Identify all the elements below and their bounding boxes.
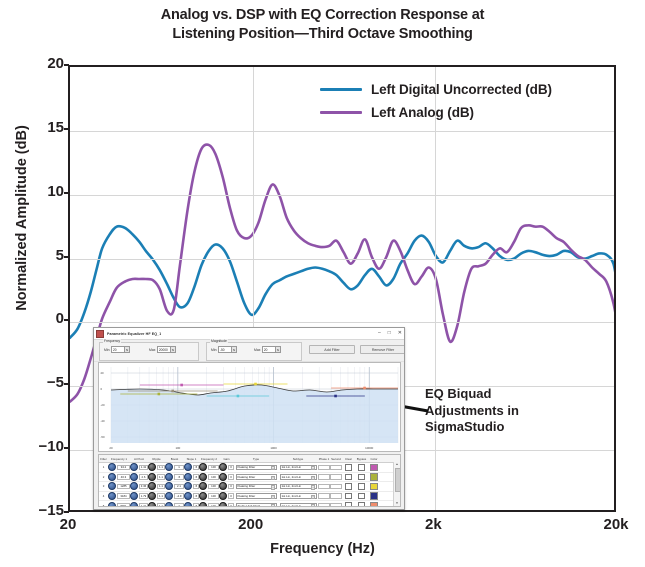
eq-filter-handle[interactable] bbox=[171, 390, 174, 393]
legend-item-label: Left Digital Uncorrected (dB) bbox=[371, 82, 552, 97]
color-cell[interactable] bbox=[368, 501, 380, 507]
rotary-knob[interactable] bbox=[130, 473, 138, 481]
gridline-horizontal bbox=[70, 131, 614, 132]
frequency-2-control[interactable]: 100 bbox=[199, 482, 219, 491]
magnitude-min-stepper[interactable]: ⇅ bbox=[232, 346, 237, 353]
boost-control[interactable]: -5 bbox=[165, 473, 184, 482]
filter-index-value: 4 bbox=[103, 494, 105, 498]
clear-cell[interactable] bbox=[342, 492, 355, 501]
rotary-knob[interactable] bbox=[219, 492, 227, 500]
gain-control[interactable]: 0 bbox=[219, 492, 234, 501]
clear-cell-checkbox[interactable] bbox=[345, 464, 352, 471]
column-header[interactable]: Bypass bbox=[355, 457, 368, 461]
frequency-2-control-value: 100 bbox=[208, 465, 219, 470]
rotary-knob[interactable] bbox=[184, 463, 192, 471]
rotary-knob[interactable] bbox=[165, 473, 173, 481]
filter-index-value: 5 bbox=[103, 504, 105, 507]
at-pivot-control[interactable]: 3.36 bbox=[130, 482, 148, 491]
filter-subtype[interactable]: 1st Lin, 2nd Lin⌄ bbox=[278, 482, 318, 491]
filter-color-swatch[interactable] bbox=[370, 492, 377, 499]
frequency-2-control-value: 100 bbox=[208, 484, 219, 489]
chevron-down-icon[interactable]: ⌄ bbox=[271, 495, 275, 499]
rotary-knob[interactable] bbox=[148, 492, 156, 500]
second-value bbox=[330, 503, 342, 507]
gridline-vertical bbox=[435, 67, 436, 510]
y-tick-label: −5 bbox=[4, 374, 64, 391]
app-icon bbox=[96, 330, 104, 338]
bypass-cell-checkbox[interactable] bbox=[358, 502, 365, 507]
rotary-knob[interactable] bbox=[199, 492, 207, 500]
eq-filter-handle[interactable] bbox=[334, 395, 337, 398]
second-cell[interactable] bbox=[330, 501, 342, 507]
magnitude-min-field[interactable]: Min -50 ⇅ bbox=[211, 346, 237, 353]
eq-toolbar: Frequency Min 20 ⇅ Max 20000 ⇅ Magnitude… bbox=[94, 340, 404, 362]
legend-color-swatch bbox=[320, 88, 362, 92]
magnitude-max-label: Max bbox=[254, 348, 260, 352]
maximize-icon[interactable]: □ bbox=[388, 331, 391, 336]
filter-subtype-value: 1st Lin, 2nd Lin bbox=[282, 494, 302, 498]
filter-type-select[interactable]: Treble High Shelf⌄ bbox=[236, 503, 277, 507]
chart-title-line-1: Analog vs. DSP with EQ Correction Respon… bbox=[0, 6, 645, 25]
legend-item: Left Analog (dB) bbox=[320, 101, 552, 124]
second-cell[interactable] bbox=[330, 463, 342, 472]
filter-subtype-value: 1st Lin, 2nd Lin bbox=[282, 475, 302, 479]
phase-1-value bbox=[318, 465, 330, 470]
chevron-down-icon[interactable]: ⌄ bbox=[311, 476, 315, 480]
ripple-control-value: 1.1 bbox=[157, 493, 165, 498]
at-pivot-control[interactable]: 1.41 bbox=[130, 463, 148, 472]
frequency-1-control-value: 1285 bbox=[117, 484, 130, 489]
frequency-max-field[interactable]: Max 20000 ⇅ bbox=[149, 346, 176, 353]
filter-type[interactable]: Peaking Filter⌄ bbox=[234, 473, 278, 482]
annotation-text: EQ Biquad Adjustments in SigmaStudio bbox=[425, 386, 519, 436]
at-pivot-control-value: 3.36 bbox=[139, 484, 148, 489]
clear-cell-checkbox[interactable] bbox=[345, 493, 352, 500]
column-header[interactable]: Frequency 2 bbox=[199, 457, 219, 461]
bypass-cell[interactable] bbox=[355, 463, 368, 472]
eq-y-tick-label: -20 bbox=[101, 403, 105, 407]
column-header[interactable]: Phase 1 bbox=[318, 457, 330, 461]
slope-1-control[interactable]: -5 bbox=[184, 463, 199, 472]
chevron-down-icon[interactable]: ⌄ bbox=[311, 485, 315, 489]
rotary-knob[interactable] bbox=[199, 482, 207, 490]
filter-index-value: 3 bbox=[103, 484, 105, 488]
filter-index: 1 bbox=[99, 463, 108, 472]
scroll-down-icon[interactable]: ▼ bbox=[394, 501, 400, 506]
column-header[interactable]: Clear bbox=[342, 457, 355, 461]
bypass-cell[interactable] bbox=[355, 473, 368, 482]
chevron-down-icon[interactable]: ⌄ bbox=[271, 504, 275, 507]
rotary-knob[interactable] bbox=[219, 502, 227, 507]
filter-color-swatch[interactable] bbox=[370, 464, 377, 471]
filter-subtype-select[interactable]: 1st Lin, 2nd Lin⌄ bbox=[280, 484, 317, 490]
filter-table-header: FilterFrequency 1At PivotRippleBoostSlop… bbox=[99, 455, 400, 463]
boost-control-value: 1 bbox=[174, 465, 184, 470]
ripple-control[interactable]: 1.1 bbox=[148, 492, 165, 501]
filter-subtype[interactable]: 1st Lin, 2nd Lin⌄ bbox=[278, 501, 318, 507]
second-value bbox=[330, 465, 342, 470]
second-cell[interactable] bbox=[330, 473, 342, 482]
phase-1-value bbox=[318, 493, 330, 498]
column-header[interactable]: Subtype bbox=[278, 457, 318, 461]
rotary-knob[interactable] bbox=[130, 482, 138, 490]
filter-type-select[interactable]: Peaking Filter⌄ bbox=[236, 484, 277, 490]
frequency-max-stepper[interactable]: ⇅ bbox=[171, 346, 176, 353]
magnitude-min-label: Min bbox=[211, 348, 216, 352]
boost-control-value: -5 bbox=[174, 474, 184, 479]
ripple-control-value: 1.1 bbox=[157, 484, 165, 489]
filter-subtype-value: 1st Lin, 2nd Lin bbox=[282, 484, 302, 488]
ripple-control[interactable]: 1.1 bbox=[148, 482, 165, 491]
add-filter-button[interactable]: Add Filter bbox=[309, 345, 355, 354]
filter-color-swatch[interactable] bbox=[370, 483, 377, 490]
frequency-1-control[interactable]: 46.3 bbox=[108, 473, 130, 482]
frequency-1-control[interactable]: 3184 bbox=[108, 492, 130, 501]
phase-1-value bbox=[318, 474, 330, 479]
rotary-knob[interactable] bbox=[148, 463, 156, 471]
at-pivot-control[interactable]: 2.6 bbox=[130, 473, 148, 482]
column-header[interactable]: Filter bbox=[99, 457, 108, 461]
frequency-1-control-value: 3184 bbox=[117, 493, 130, 498]
rotary-knob[interactable] bbox=[130, 492, 138, 500]
eq-filter-handle[interactable] bbox=[237, 395, 240, 398]
filter-color-swatch[interactable] bbox=[370, 502, 377, 507]
boost-control-value: 2.1 bbox=[174, 484, 184, 489]
gridline-horizontal bbox=[70, 259, 614, 260]
filter-type-select[interactable]: Peaking Filter⌄ bbox=[236, 493, 277, 499]
eq-filter-handle[interactable] bbox=[254, 383, 257, 386]
ripple-control[interactable]: 1.1 bbox=[148, 463, 165, 472]
frequency-min-stepper[interactable]: ⇅ bbox=[125, 346, 130, 353]
chevron-down-icon[interactable]: ⌄ bbox=[311, 466, 315, 470]
slope-1-control[interactable]: -5 bbox=[184, 501, 199, 507]
sigmastudio-window[interactable]: Parametric Equalizer HF EQ_1 – □ ✕ Frequ… bbox=[93, 327, 405, 510]
eq-x-tick-label: 10000 bbox=[365, 446, 373, 450]
filter-type-value: Peaking Filter bbox=[238, 465, 256, 469]
color-cell[interactable] bbox=[368, 482, 380, 491]
magnitude-group-label: Magnitude bbox=[210, 339, 228, 343]
eq-filter-handle[interactable] bbox=[180, 384, 183, 387]
filter-subtype-select[interactable]: 1st Lin, 2nd Lin⌄ bbox=[280, 503, 317, 507]
bypass-cell-checkbox[interactable] bbox=[358, 474, 365, 481]
chart-title-line-2: Listening Position—Third Octave Smoothin… bbox=[0, 25, 645, 44]
column-header[interactable]: Ripple bbox=[148, 457, 165, 461]
annotation-line-1: EQ Biquad bbox=[425, 386, 519, 403]
boost-control[interactable]: 2 bbox=[165, 501, 184, 507]
chevron-down-icon[interactable]: ⌄ bbox=[271, 485, 275, 489]
rotary-knob[interactable] bbox=[219, 482, 227, 490]
second-cell[interactable] bbox=[330, 492, 342, 501]
chart-series-line bbox=[70, 226, 616, 338]
frequency-1-control-value: 8901 bbox=[117, 503, 130, 507]
phase-1-cell[interactable] bbox=[318, 463, 330, 472]
second-value bbox=[330, 474, 342, 479]
second-cell[interactable] bbox=[330, 482, 342, 491]
window-controls[interactable]: – □ ✕ bbox=[378, 328, 402, 339]
eq-y-tick-label: -50 bbox=[101, 435, 105, 439]
frequency-max-input[interactable]: 20000 bbox=[157, 346, 171, 353]
clear-cell[interactable] bbox=[342, 463, 355, 472]
filter-subtype[interactable]: 1st Lin, 2nd Lin⌄ bbox=[278, 492, 318, 501]
clear-cell[interactable] bbox=[342, 482, 355, 491]
clear-cell-checkbox[interactable] bbox=[345, 502, 352, 507]
boost-control[interactable]: -4.9 bbox=[165, 492, 184, 501]
filter-type[interactable]: Treble High Shelf⌄ bbox=[234, 501, 278, 507]
rotary-knob[interactable] bbox=[199, 502, 207, 507]
rotary-knob[interactable] bbox=[130, 463, 138, 471]
table-row[interactable]: 194.21.411.11-51000Peaking Filter⌄1st Li… bbox=[99, 463, 400, 473]
frequency-2-control-value: 100 bbox=[208, 503, 219, 507]
filter-type[interactable]: Peaking Filter⌄ bbox=[234, 463, 278, 472]
chevron-down-icon[interactable]: ⌄ bbox=[271, 466, 275, 470]
x-tick-label: 200 bbox=[238, 516, 263, 533]
filter-type-value: Peaking Filter bbox=[238, 484, 256, 488]
table-row[interactable]: 246.32.61.1-5-51000Peaking Filter⌄1st Li… bbox=[99, 473, 400, 483]
phase-1-cell[interactable] bbox=[318, 492, 330, 501]
at-pivot-control-value: 1.79 bbox=[139, 493, 148, 498]
frequency-1-control[interactable]: 8901 bbox=[108, 501, 130, 507]
clear-cell[interactable] bbox=[342, 501, 355, 507]
table-row[interactable]: 431841.791.1-4.9-51000Peaking Filter⌄1st… bbox=[99, 492, 400, 502]
window-title-bar[interactable]: Parametric Equalizer HF EQ_1 – □ ✕ bbox=[94, 328, 404, 340]
y-tick-label: 0 bbox=[4, 310, 64, 327]
x-tick-label: 2k bbox=[425, 516, 442, 533]
boost-control-value: -4.9 bbox=[174, 493, 184, 498]
frequency-2-control-value: 100 bbox=[208, 493, 219, 498]
frequency-min-input[interactable]: 20 bbox=[111, 346, 125, 353]
frequency-min-field[interactable]: Min 20 ⇅ bbox=[104, 346, 130, 353]
rotary-knob[interactable] bbox=[108, 492, 116, 500]
filter-index: 4 bbox=[99, 492, 108, 501]
eq-x-tick-label: 20 bbox=[109, 446, 113, 450]
chevron-down-icon[interactable]: ⌄ bbox=[311, 495, 315, 499]
chart-legend: Left Digital Uncorrected (dB)Left Analog… bbox=[320, 78, 552, 124]
table-scrollbar[interactable]: ▲▼ bbox=[393, 462, 400, 506]
slope-1-control[interactable]: -5 bbox=[184, 473, 199, 482]
bypass-cell-checkbox[interactable] bbox=[358, 483, 365, 490]
scrollbar-thumb[interactable] bbox=[395, 468, 401, 492]
rotary-knob[interactable] bbox=[108, 463, 116, 471]
bypass-cell[interactable] bbox=[355, 492, 368, 501]
filter-subtype-select[interactable]: 1st Lin, 2nd Lin⌄ bbox=[280, 493, 317, 499]
eq-y-tick-label: 0 bbox=[101, 387, 103, 391]
rotary-knob[interactable] bbox=[108, 502, 116, 507]
frequency-1-control[interactable]: 1285 bbox=[108, 482, 130, 491]
filter-index: 5 bbox=[99, 501, 108, 507]
at-pivot-control[interactable]: 1.41 bbox=[130, 501, 148, 507]
minimize-icon[interactable]: – bbox=[378, 331, 381, 336]
rotary-knob[interactable] bbox=[108, 482, 116, 490]
gain-control[interactable]: 0 bbox=[219, 501, 234, 507]
slope-1-control[interactable]: -5 bbox=[184, 482, 199, 491]
clear-cell-checkbox[interactable] bbox=[345, 483, 352, 490]
eq-filter-handle[interactable] bbox=[158, 393, 161, 396]
filter-subtype-select[interactable]: 1st Lin, 2nd Lin⌄ bbox=[280, 465, 317, 471]
rotary-knob[interactable] bbox=[184, 473, 192, 481]
gain-control[interactable]: 0 bbox=[219, 463, 234, 472]
eq-response-fill bbox=[111, 385, 398, 443]
filter-type[interactable]: Peaking Filter⌄ bbox=[234, 482, 278, 491]
remove-filter-button[interactable]: Remove Filter bbox=[360, 345, 405, 354]
column-header[interactable]: Type bbox=[234, 457, 278, 461]
rotary-knob[interactable] bbox=[165, 482, 173, 490]
x-tick-label: 20k bbox=[603, 516, 628, 533]
frequency-2-control-value: 100 bbox=[208, 474, 219, 479]
rotary-knob[interactable] bbox=[199, 473, 207, 481]
column-header[interactable]: Gain bbox=[219, 457, 234, 461]
filter-subtype-select[interactable]: 1st Lin, 2nd Lin⌄ bbox=[280, 474, 317, 480]
rotary-knob[interactable] bbox=[219, 463, 227, 471]
filter-index-value: 1 bbox=[103, 465, 105, 469]
rotary-knob[interactable] bbox=[219, 473, 227, 481]
scroll-up-icon[interactable]: ▲ bbox=[394, 462, 400, 467]
frequency-min-label: Min bbox=[104, 348, 109, 352]
rotary-knob[interactable] bbox=[148, 502, 156, 507]
column-header[interactable]: Second bbox=[330, 457, 342, 461]
eq-plot-canvas: 200-20-40-5020100100010000 bbox=[99, 363, 400, 451]
filter-subtype-value: 1st Lin, 2nd Lin bbox=[282, 465, 302, 469]
color-cell[interactable] bbox=[368, 473, 380, 482]
magnitude-max-stepper[interactable]: ⇅ bbox=[276, 346, 281, 353]
legend-item: Left Digital Uncorrected (dB) bbox=[320, 78, 552, 101]
rotary-knob[interactable] bbox=[199, 463, 207, 471]
clear-cell[interactable] bbox=[342, 473, 355, 482]
y-tick-label: −15 bbox=[4, 502, 64, 519]
filter-type-select[interactable]: Peaking Filter⌄ bbox=[236, 465, 277, 471]
boost-control[interactable]: 1 bbox=[165, 463, 184, 472]
frequency-group-label: Frequency bbox=[103, 339, 121, 343]
legend-color-swatch bbox=[320, 111, 362, 115]
filter-type-value: Peaking Filter bbox=[238, 494, 256, 498]
x-tick-label: 20 bbox=[60, 516, 77, 533]
table-row[interactable]: 312853.361.12.1-51000Peaking Filter⌄1st … bbox=[99, 482, 400, 492]
slope-1-control[interactable]: -5 bbox=[184, 492, 199, 501]
gain-control[interactable]: 0 bbox=[219, 482, 234, 491]
rotary-knob[interactable] bbox=[165, 492, 173, 500]
ripple-control-value: 1.1 bbox=[157, 465, 165, 470]
y-axis: 20151050−5−10−15 bbox=[0, 65, 64, 512]
frequency-1-control-value: 46.3 bbox=[117, 474, 130, 479]
at-pivot-control[interactable]: 1.79 bbox=[130, 492, 148, 501]
bypass-cell[interactable] bbox=[355, 501, 368, 507]
window-title: Parametric Equalizer HF EQ_1 bbox=[107, 332, 161, 336]
eq-x-tick-label: 1000 bbox=[270, 446, 277, 450]
rotary-knob[interactable] bbox=[184, 492, 192, 500]
column-header[interactable]: Color bbox=[368, 457, 380, 461]
annotation-line-2: Adjustments in bbox=[425, 403, 519, 420]
filter-type[interactable]: Peaking Filter⌄ bbox=[234, 492, 278, 501]
second-value bbox=[330, 493, 342, 498]
close-icon[interactable]: ✕ bbox=[398, 331, 402, 336]
ripple-control-value: 1.1 bbox=[157, 503, 165, 507]
phase-1-cell[interactable] bbox=[318, 501, 330, 507]
chevron-down-icon[interactable]: ⌄ bbox=[271, 476, 275, 480]
phase-1-cell[interactable] bbox=[318, 473, 330, 482]
filter-subtype-value: 1st Lin, 2nd Lin bbox=[282, 504, 302, 507]
filter-color-swatch[interactable] bbox=[370, 473, 377, 480]
rotary-knob[interactable] bbox=[148, 482, 156, 490]
eq-filter-handle[interactable] bbox=[363, 387, 366, 390]
filter-index: 3 bbox=[99, 482, 108, 491]
filter-type-value: Treble High Shelf bbox=[238, 504, 260, 507]
frequency-2-control[interactable]: 100 bbox=[199, 473, 219, 482]
filter-type-select[interactable]: Peaking Filter⌄ bbox=[236, 474, 277, 480]
eq-y-tick-label: 20 bbox=[101, 371, 105, 375]
magnitude-min-input[interactable]: -50 bbox=[218, 346, 232, 353]
at-pivot-control-value: 2.6 bbox=[139, 474, 148, 479]
y-tick-label: 5 bbox=[4, 247, 64, 264]
ripple-control[interactable]: 1.1 bbox=[148, 473, 165, 482]
color-cell[interactable] bbox=[368, 492, 380, 501]
column-header[interactable]: Frequency 1 bbox=[108, 457, 130, 461]
gridline-horizontal bbox=[70, 195, 614, 196]
color-cell[interactable] bbox=[368, 463, 380, 472]
phase-1-value bbox=[318, 503, 330, 507]
at-pivot-control-value: 1.41 bbox=[139, 503, 148, 507]
bypass-cell-checkbox[interactable] bbox=[358, 493, 365, 500]
frequency-2-control[interactable]: 100 bbox=[199, 463, 219, 472]
gain-control[interactable]: 0 bbox=[219, 473, 234, 482]
phase-1-cell[interactable] bbox=[318, 482, 330, 491]
frequency-1-control-value: 94.2 bbox=[117, 465, 130, 470]
rotary-knob[interactable] bbox=[184, 482, 192, 490]
phase-1-value bbox=[318, 484, 330, 489]
rotary-knob[interactable] bbox=[165, 463, 173, 471]
magnitude-max-field[interactable]: Max 20 ⇅ bbox=[254, 346, 281, 353]
bypass-cell[interactable] bbox=[355, 482, 368, 491]
bypass-cell-checkbox[interactable] bbox=[358, 464, 365, 471]
frequency-1-control[interactable]: 94.2 bbox=[108, 463, 130, 472]
legend-item-label: Left Analog (dB) bbox=[371, 105, 474, 120]
y-tick-label: 10 bbox=[4, 183, 64, 200]
boost-control-value: 2 bbox=[174, 503, 184, 507]
table-row[interactable]: 589011.411.12-51000Treble High Shelf⌄1st… bbox=[99, 501, 400, 507]
ripple-control-value: 1.1 bbox=[157, 474, 165, 479]
magnitude-max-input[interactable]: 20 bbox=[262, 346, 276, 353]
boost-control[interactable]: 2.1 bbox=[165, 482, 184, 491]
clear-cell-checkbox[interactable] bbox=[345, 474, 352, 481]
chevron-down-icon[interactable]: ⌄ bbox=[311, 504, 315, 507]
eq-x-tick-label: 100 bbox=[175, 446, 180, 450]
filter-subtype[interactable]: 1st Lin, 2nd Lin⌄ bbox=[278, 463, 318, 472]
y-axis-label: Normalized Amplitude (dB) bbox=[14, 68, 30, 368]
rotary-knob[interactable] bbox=[108, 473, 116, 481]
annotation-line-3: SigmaStudio bbox=[425, 419, 519, 436]
x-axis-label: Frequency (Hz) bbox=[0, 541, 645, 557]
rotary-knob[interactable] bbox=[130, 502, 138, 507]
y-tick-label: 20 bbox=[4, 55, 64, 72]
frequency-2-control[interactable]: 100 bbox=[199, 501, 219, 507]
filter-subtype[interactable]: 1st Lin, 2nd Lin⌄ bbox=[278, 473, 318, 482]
frequency-2-control[interactable]: 100 bbox=[199, 492, 219, 501]
eq-y-tick-label: -40 bbox=[101, 419, 105, 423]
filter-type-value: Peaking Filter bbox=[238, 475, 256, 479]
ripple-control[interactable]: 1.1 bbox=[148, 501, 165, 507]
frequency-max-label: Max bbox=[149, 348, 155, 352]
column-header[interactable]: At Pivot bbox=[130, 457, 148, 461]
column-header[interactable]: Boost bbox=[165, 457, 184, 461]
eq-response-plot[interactable]: 200-20-40-5020100100010000 bbox=[98, 362, 401, 452]
filter-table[interactable]: FilterFrequency 1At PivotRippleBoostSlop… bbox=[98, 454, 401, 507]
rotary-knob[interactable] bbox=[165, 502, 173, 507]
y-tick-label: 15 bbox=[4, 119, 64, 136]
column-header[interactable]: Slope 1 bbox=[184, 457, 199, 461]
rotary-knob[interactable] bbox=[184, 502, 192, 507]
gridline-horizontal bbox=[70, 322, 614, 323]
rotary-knob[interactable] bbox=[148, 473, 156, 481]
filter-index: 2 bbox=[99, 473, 108, 482]
y-tick-label: −10 bbox=[4, 438, 64, 455]
